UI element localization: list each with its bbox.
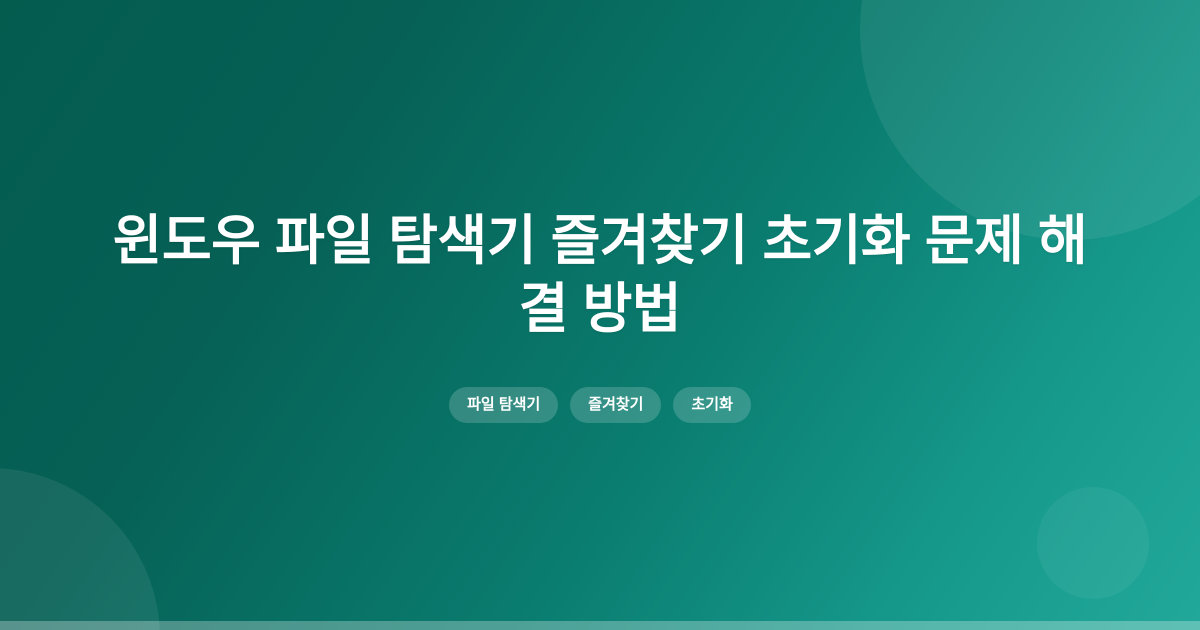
card-content: 윈도우 파일 탐색기 즐겨찾기 초기화 문제 해결 방법 파일 탐색기 즐겨찾기… — [0, 0, 1200, 630]
page-title: 윈도우 파일 탐색기 즐겨찾기 초기화 문제 해결 방법 — [95, 207, 1105, 343]
tag-list: 파일 탐색기 즐겨찾기 초기화 — [449, 387, 751, 423]
tag-pill-3[interactable]: 초기화 — [673, 387, 750, 423]
og-card: 윈도우 파일 탐색기 즐겨찾기 초기화 문제 해결 방법 파일 탐색기 즐겨찾기… — [0, 0, 1200, 630]
tag-pill-1[interactable]: 파일 탐색기 — [449, 387, 558, 423]
tag-pill-2[interactable]: 즐겨찾기 — [570, 387, 661, 423]
